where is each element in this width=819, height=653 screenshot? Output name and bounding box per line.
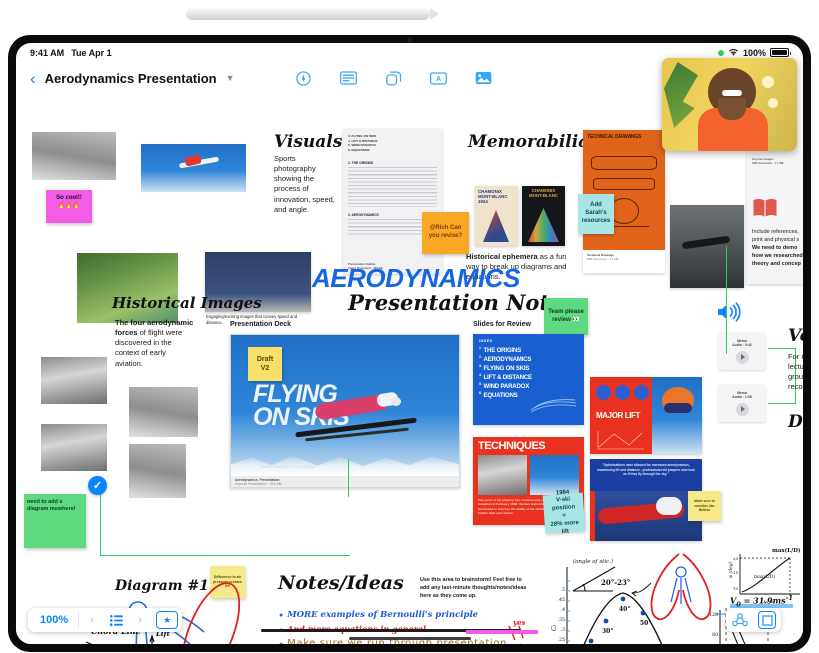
svg-text:Cₗ: Cₗ bbox=[551, 624, 558, 631]
sticky-add-sarah[interactable]: Add Sarah's resources bbox=[578, 194, 614, 234]
heading-voice: Vo bbox=[788, 326, 803, 346]
text-voice-body: For re lectur group recor bbox=[788, 352, 803, 393]
canvas-tools-toolbar[interactable] bbox=[726, 608, 781, 632]
deck-slide-footer: Aerodynamics_Presentation Keynote Presen… bbox=[231, 476, 459, 487]
annotation-velocity: V0 = 31.9ms-1 bbox=[730, 594, 793, 608]
board-card-references[interactable]: Keynote ImagesPDF Document · 1.1 MB Incl… bbox=[747, 152, 803, 284]
slide-quote[interactable]: "Optimisations have allowed for increase… bbox=[590, 459, 702, 541]
audio-card-2[interactable]: MemoAudio · 1:08 bbox=[718, 384, 766, 422]
v-style-sketch bbox=[641, 546, 721, 631]
apple-pencil bbox=[186, 8, 430, 20]
sticky-rich-revise[interactable]: @Rich Can you revise? bbox=[422, 212, 469, 254]
zoom-toolbar[interactable]: 100% ‹ › ★ bbox=[28, 608, 182, 632]
heading-notes-ideas: Notes/Ideas bbox=[278, 572, 404, 594]
ipad-device-frame: 9:41 AM Tue Apr 1 100% ‹ Aerodynamics Pr… bbox=[8, 35, 811, 652]
svg-text:.45: .45 bbox=[558, 597, 565, 603]
svg-text:40°: 40° bbox=[619, 606, 630, 613]
heading-diagram-1: Diagram #1 bbox=[115, 578, 209, 594]
facetime-video-tile[interactable] bbox=[662, 58, 797, 151]
svg-text:120: 120 bbox=[709, 612, 718, 618]
play-button[interactable] bbox=[736, 351, 749, 364]
back-chevron-icon[interactable]: ‹ bbox=[30, 70, 36, 87]
svg-text:50°: 50° bbox=[640, 620, 651, 627]
board-image-glider-1[interactable] bbox=[41, 357, 107, 404]
collaboration-icon[interactable] bbox=[731, 611, 749, 629]
svg-text:.4: .4 bbox=[561, 607, 565, 613]
slide-index[interactable]: INDEX 1.THE ORIGINS 2.AERODYNAMICS 3.FLY… bbox=[473, 334, 584, 425]
svg-text:.25: .25 bbox=[558, 637, 565, 643]
svg-text:max(L/D): max(L/D) bbox=[754, 573, 775, 580]
star-box-icon[interactable]: ★ bbox=[156, 611, 178, 629]
shapes-icon[interactable] bbox=[384, 70, 404, 87]
sticky-draft-v2[interactable]: Draft V2 bbox=[248, 347, 282, 381]
sticky-make-sure[interactable]: Make sure to mention Jan Boklov bbox=[688, 491, 721, 521]
status-check-badge[interactable]: ✓ bbox=[88, 476, 107, 495]
board-image-jumper-sky-1[interactable] bbox=[141, 144, 246, 192]
heading-diagrams: Di bbox=[788, 412, 803, 432]
sticky-pressure[interactable]: Difference in air pressure creates lift bbox=[210, 566, 245, 598]
svg-text:80: 80 bbox=[712, 632, 718, 638]
label-presentation-deck: Presentation Deck bbox=[230, 321, 291, 328]
svg-text:30°: 30° bbox=[602, 628, 613, 635]
chevron-right-icon[interactable]: › bbox=[129, 610, 151, 630]
freeform-canvas[interactable]: So cool!! 🔥🔥🔥 Engaging/exciting images t… bbox=[16, 94, 803, 644]
connector-deck bbox=[100, 494, 350, 556]
board-image-ski-jump-bw[interactable] bbox=[32, 132, 116, 180]
svg-text:max(L/D): max(L/D) bbox=[772, 547, 801, 554]
status-date: Tue Apr 1 bbox=[71, 48, 112, 58]
ipad-screen: 9:41 AM Tue Apr 1 100% ‹ Aerodynamics Pr… bbox=[16, 43, 803, 644]
text-box-icon[interactable]: A bbox=[429, 70, 449, 87]
zoom-level[interactable]: 100% bbox=[32, 614, 76, 626]
page-title: Aerodynamics Presentation bbox=[45, 71, 217, 86]
svg-text:20°-23°: 20°-23° bbox=[601, 578, 630, 587]
status-time: 9:41 AM bbox=[30, 48, 64, 58]
board-image-biplane[interactable] bbox=[129, 387, 198, 437]
pen-circle-icon[interactable] bbox=[294, 70, 314, 87]
text-notes-hint: Use this area to brainstorm! Feel free t… bbox=[420, 576, 530, 600]
label-slides-for-review: Slides for Review bbox=[473, 321, 531, 328]
battery-percent: 100% bbox=[743, 48, 766, 58]
board-image-skier-bw[interactable] bbox=[129, 444, 186, 498]
open-book-icon bbox=[752, 197, 778, 219]
recording-indicator-dot bbox=[718, 50, 724, 56]
sticky-team-review[interactable]: Team please review 👀 bbox=[544, 298, 588, 335]
home-indicator bbox=[349, 637, 471, 641]
sticky-v-ski[interactable]: 1984 V-ski position = 28% more lift bbox=[543, 493, 586, 534]
svg-text:.35: .35 bbox=[558, 617, 565, 623]
text-visuals-body: Sports photography showing the process o… bbox=[274, 154, 338, 215]
heading-memorabilia: Memorabilia bbox=[468, 132, 589, 152]
svg-text:15: 15 bbox=[733, 570, 739, 575]
text-historical-body: The four aerodynamic forces of flight we… bbox=[115, 318, 195, 369]
poster-chamonix-2[interactable]: CHAMONIXMONT-BLANC bbox=[522, 186, 565, 246]
poster-chamonix-1[interactable]: CHAMONIXMONT-BLANC1924 bbox=[475, 186, 518, 246]
mini-graph-icon bbox=[596, 429, 646, 451]
photo-icon[interactable] bbox=[474, 70, 494, 87]
markup-toolbar: A bbox=[294, 70, 494, 87]
slide-major-lift[interactable]: MAJOR LIFT bbox=[590, 377, 702, 454]
play-button[interactable] bbox=[736, 403, 749, 416]
svg-text:(angle of stic.): (angle of stic.) bbox=[573, 558, 613, 565]
heading-visuals: Visuals bbox=[274, 132, 342, 152]
battery-icon bbox=[770, 48, 789, 57]
note-item: MORE examples of Bernoulli's principle bbox=[287, 610, 478, 620]
annotation-yes: yes bbox=[513, 618, 525, 627]
wave-graphic-icon bbox=[530, 397, 578, 413]
svg-text:10: 10 bbox=[733, 586, 739, 591]
connector-top-right bbox=[645, 246, 727, 354]
heading-historical-images: Historical Images bbox=[112, 294, 262, 312]
connector-deck-right bbox=[348, 459, 350, 497]
board-image-ski-hill[interactable] bbox=[76, 252, 179, 324]
chevron-left-icon[interactable]: ‹ bbox=[81, 610, 103, 630]
list-lines-icon[interactable] bbox=[105, 610, 127, 630]
board-subhead: Presentation Notes bbox=[348, 290, 574, 315]
svg-text:A: A bbox=[436, 75, 441, 83]
svg-text:20: 20 bbox=[733, 556, 739, 561]
index-list: 1.THE ORIGINS 2.AERODYNAMICS 3.FLYING ON… bbox=[479, 346, 578, 400]
svg-text:.3: .3 bbox=[561, 627, 565, 633]
sticky-so-cool[interactable]: So cool!! 🔥🔥🔥 bbox=[46, 190, 92, 223]
note-lines-icon[interactable] bbox=[339, 70, 359, 87]
wifi-icon bbox=[728, 48, 739, 57]
svg-text:α (deg): α (deg) bbox=[728, 561, 734, 578]
deck-slide-credit: AERODYNAMICS OF SKI JUMPING bbox=[261, 465, 316, 469]
chevron-down-icon[interactable]: ▼ bbox=[226, 73, 235, 83]
sticky-need-diagram[interactable]: need to add s diagram mewhere! bbox=[24, 494, 86, 548]
scroll-bar-pink bbox=[466, 630, 538, 634]
chart-drag-polar: 10° 10° 30° 40° 50° .05.1.15 .2.25.3 .35… bbox=[551, 549, 691, 644]
selection-frame-icon[interactable] bbox=[758, 611, 776, 629]
board-image-glider-2[interactable] bbox=[41, 424, 107, 471]
svg-text:.5: .5 bbox=[561, 587, 565, 593]
